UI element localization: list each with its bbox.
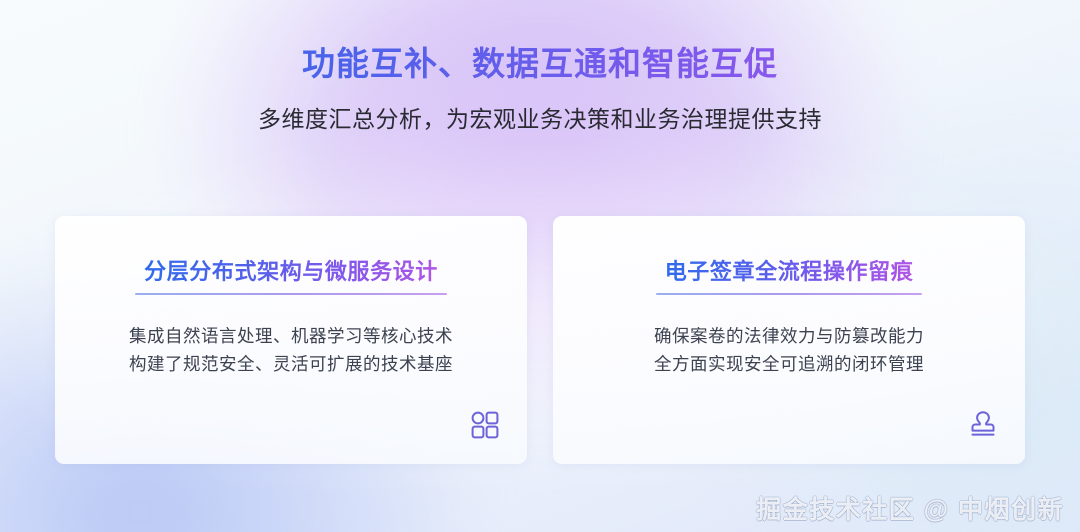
feature-card-architecture[interactable]: 分层分布式架构与微服务设计 集成自然语言处理、机器学习等核心技术 构建了规范安全…: [55, 216, 527, 464]
card-description-line-2: 构建了规范安全、灵活可扩展的技术基座: [129, 350, 453, 378]
card-description: 确保案卷的法律效力与防篡改能力 全方面实现安全可追溯的闭环管理: [654, 322, 924, 379]
stamp-seal-icon: [966, 408, 1000, 442]
card-title: 分层分布式架构与微服务设计: [144, 258, 438, 295]
card-description-line-2: 全方面实现安全可追溯的闭环管理: [654, 350, 924, 378]
card-content: 电子签章全流程操作留痕 确保案卷的法律效力与防篡改能力 全方面实现安全可追溯的闭…: [553, 216, 1025, 464]
slide-canvas: 功能互补、数据互通和智能互促 多维度汇总分析，为宏观业务决策和业务治理提供支持 …: [0, 0, 1080, 532]
feature-card-esignature[interactable]: 电子签章全流程操作留痕 确保案卷的法律效力与防篡改能力 全方面实现安全可追溯的闭…: [553, 216, 1025, 464]
header: 功能互补、数据互通和智能互促 多维度汇总分析，为宏观业务决策和业务治理提供支持: [0, 44, 1080, 134]
card-description: 集成自然语言处理、机器学习等核心技术 构建了规范安全、灵活可扩展的技术基座: [129, 322, 453, 379]
page-title: 功能互补、数据互通和智能互促: [0, 44, 1080, 84]
grid-apps-icon: [468, 408, 502, 442]
card-description-line-1: 集成自然语言处理、机器学习等核心技术: [129, 322, 453, 350]
card-content: 分层分布式架构与微服务设计 集成自然语言处理、机器学习等核心技术 构建了规范安全…: [55, 216, 527, 464]
card-description-line-1: 确保案卷的法律效力与防篡改能力: [654, 322, 924, 350]
page-subtitle: 多维度汇总分析，为宏观业务决策和业务治理提供支持: [0, 100, 1080, 134]
card-list: 分层分布式架构与微服务设计 集成自然语言处理、机器学习等核心技术 构建了规范安全…: [55, 216, 1025, 464]
card-title: 电子签章全流程操作留痕: [665, 258, 914, 295]
